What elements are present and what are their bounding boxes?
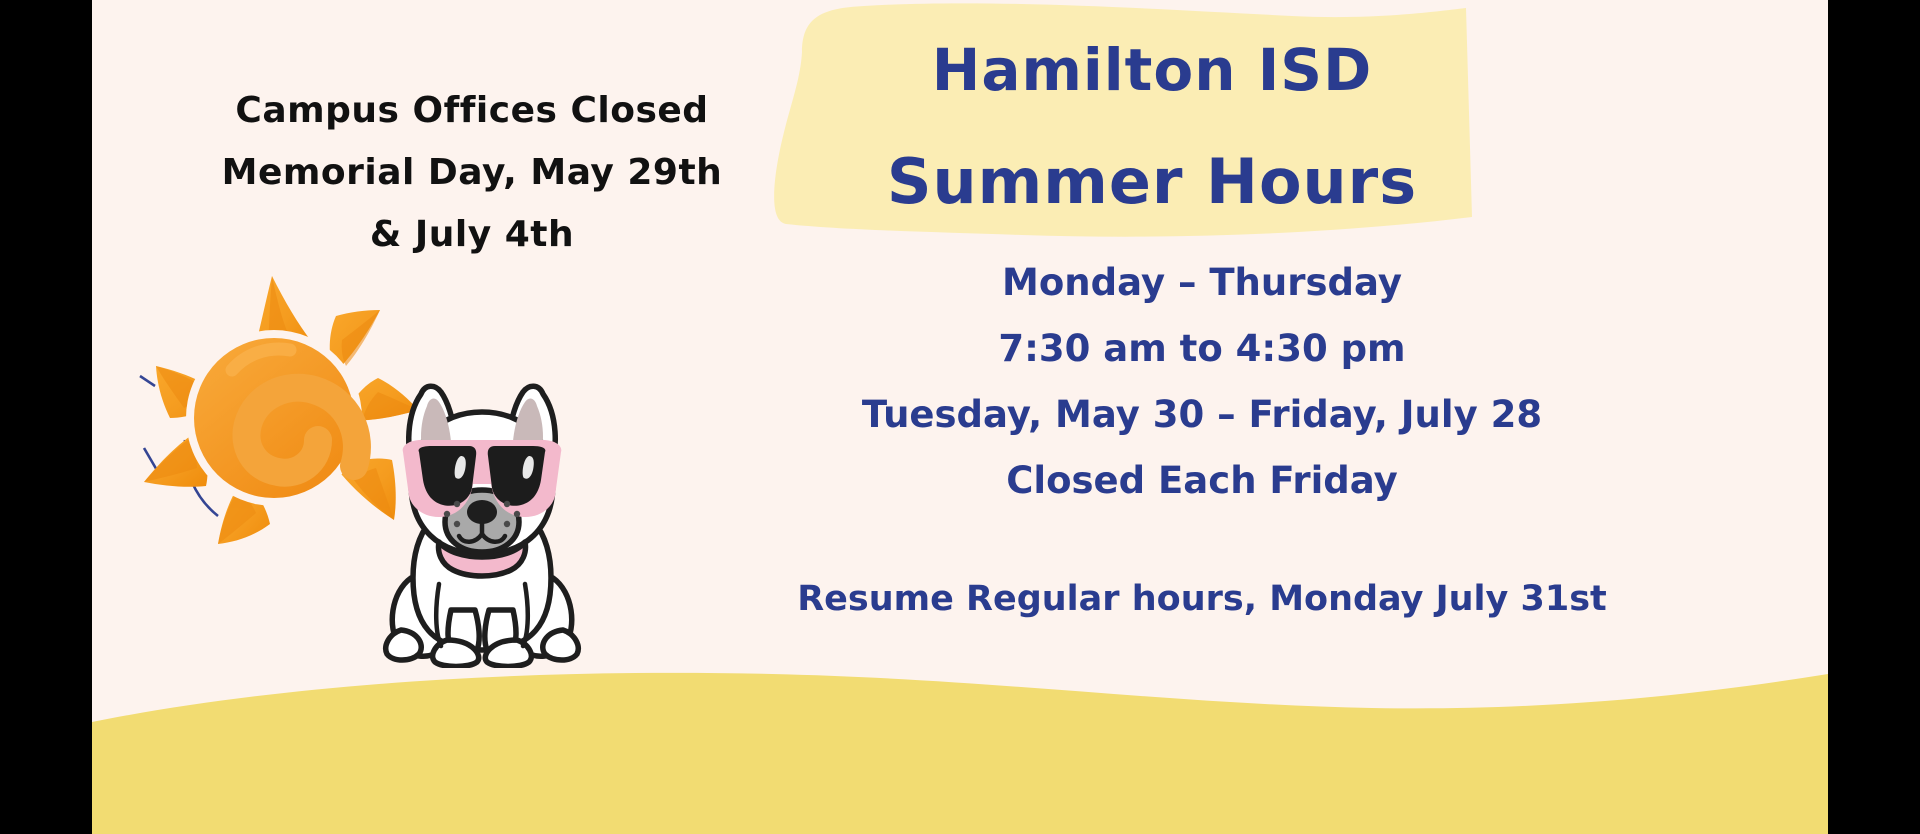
- notice-line-3: & July 4th: [152, 204, 792, 266]
- hours-line-closed-friday: Closed Each Friday: [712, 448, 1692, 514]
- text-spacer: [712, 514, 1692, 566]
- hours-line-days: Monday – Thursday: [712, 250, 1692, 316]
- hours-line-date-range: Tuesday, May 30 – Friday, July 28: [712, 382, 1692, 448]
- hours-line-resume: Resume Regular hours, Monday July 31st: [712, 566, 1692, 632]
- notice-line-2: Memorial Day, May 29th: [152, 142, 792, 204]
- campus-closed-notice: Campus Offices Closed Memorial Day, May …: [152, 80, 792, 266]
- title-line-district: Hamilton ISD: [772, 14, 1532, 126]
- flyer-canvas: Hamilton ISD Summer Hours Campus Offices…: [0, 0, 1920, 834]
- french-bulldog-sunglasses-icon: [377, 378, 587, 668]
- hours-line-times: 7:30 am to 4:30 pm: [712, 316, 1692, 382]
- notice-line-1: Campus Offices Closed: [152, 80, 792, 142]
- pillarbox-left: [0, 0, 92, 834]
- summer-hours-details: Monday – Thursday 7:30 am to 4:30 pm Tue…: [712, 250, 1692, 632]
- title-card: Hamilton ISD Summer Hours: [772, 14, 1532, 238]
- yellow-sand-dune: [92, 634, 1828, 834]
- pillarbox-right: [1828, 0, 1920, 834]
- title-line-summer-hours: Summer Hours: [772, 126, 1532, 238]
- flyer-artboard: Hamilton ISD Summer Hours Campus Offices…: [92, 0, 1828, 834]
